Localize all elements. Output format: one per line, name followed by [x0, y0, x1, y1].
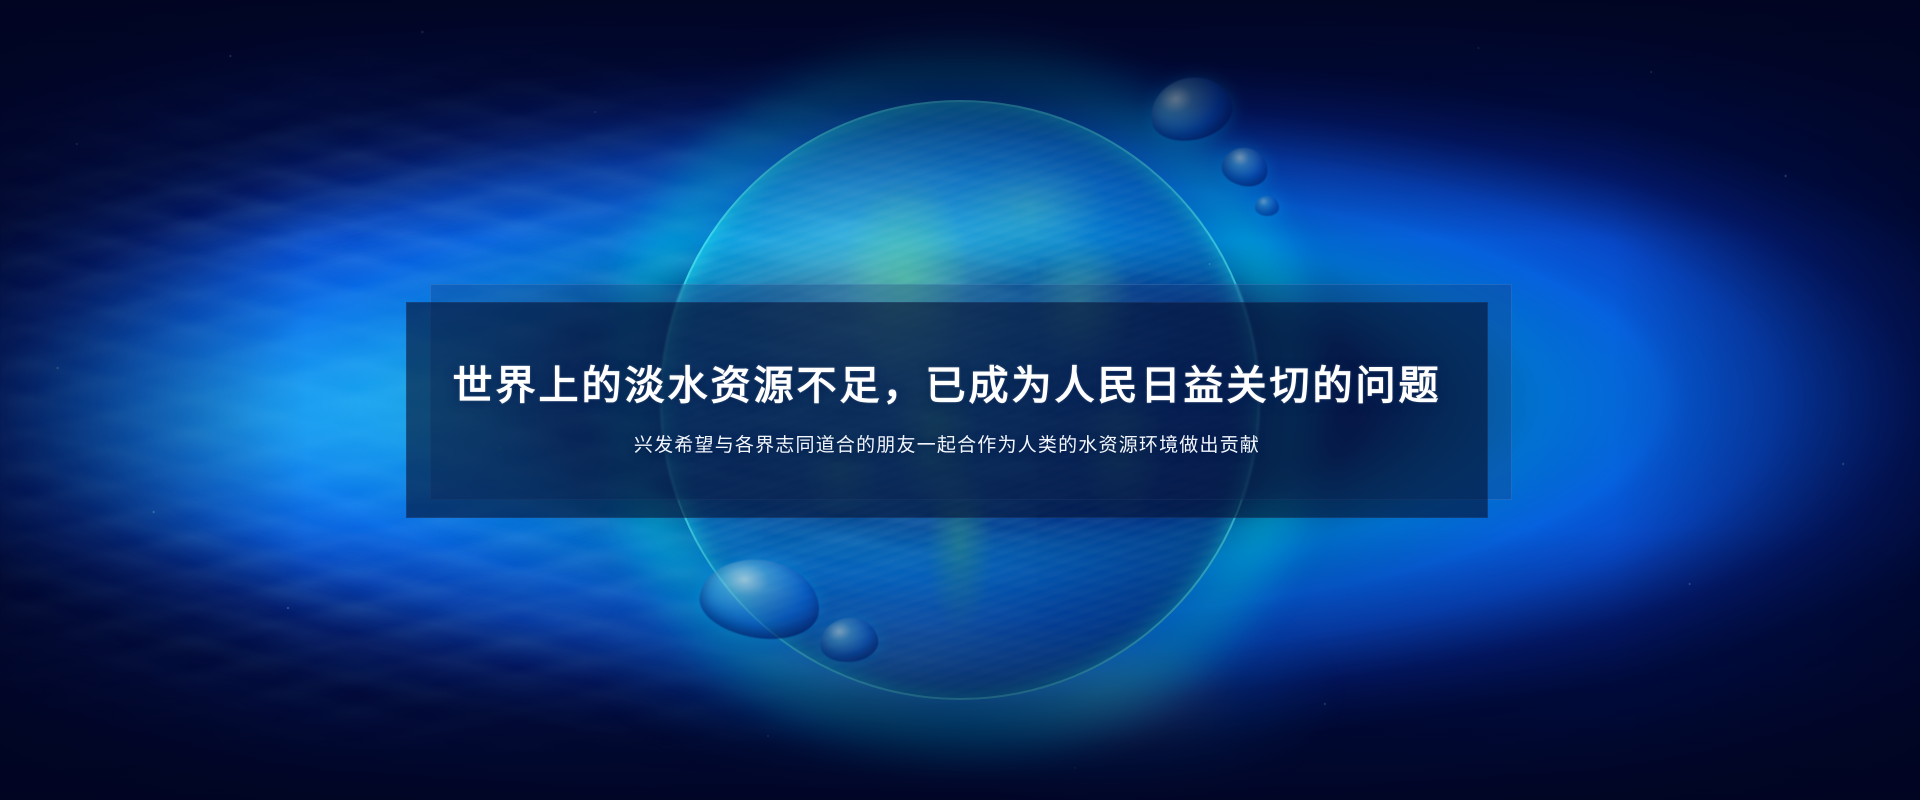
- banner-headline: 世界上的淡水资源不足，已成为人民日益关切的问题: [453, 362, 1442, 410]
- hero-banner: 世界上的淡水资源不足，已成为人民日益关切的问题 兴发希望与各界志同道合的朋友一起…: [0, 0, 1920, 800]
- text-overlay-panel: 世界上的淡水资源不足，已成为人民日益关切的问题 兴发希望与各界志同道合的朋友一起…: [406, 302, 1488, 518]
- banner-subheadline: 兴发希望与各界志同道合的朋友一起合作为人类的水资源环境做出贡献: [634, 432, 1260, 459]
